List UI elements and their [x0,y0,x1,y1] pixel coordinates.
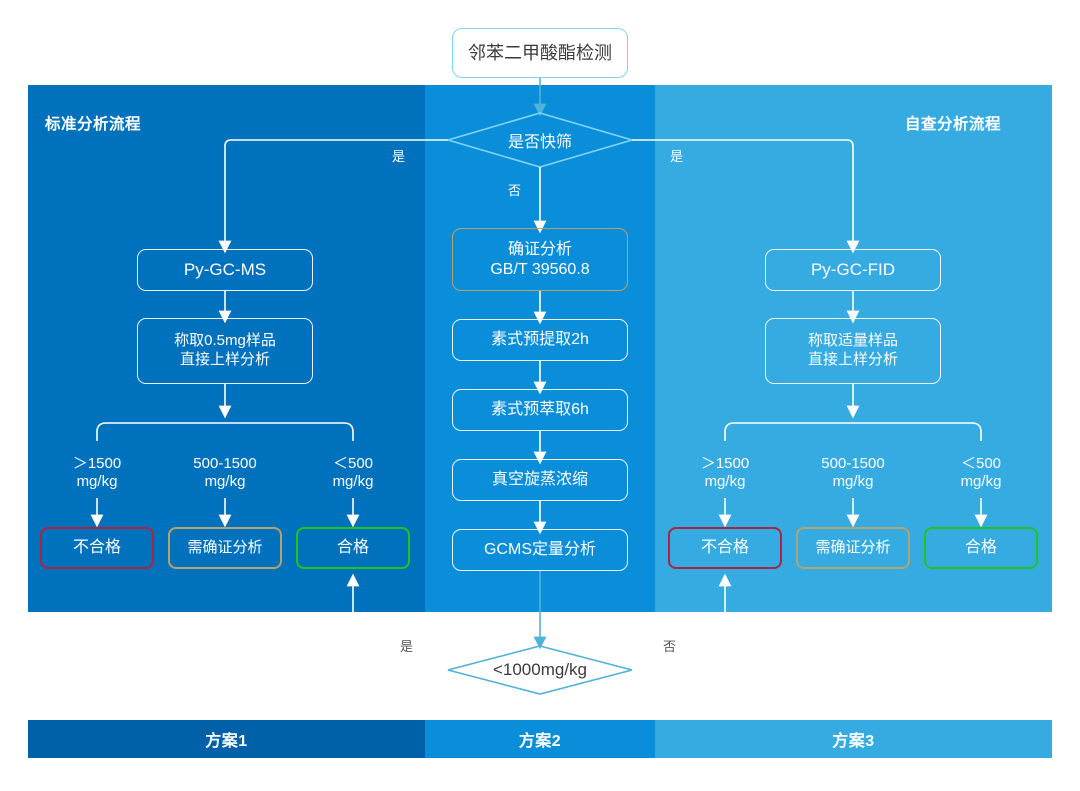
edge-label-no-down: 否 [508,180,521,199]
node-vacuum-concentrate[interactable]: 真空旋蒸浓缩 [452,459,628,501]
decision-threshold-label: <1000mg/kg [448,658,632,682]
node-left-sample-step[interactable]: 称取0.5mg样品 直接上样分析 [137,318,313,384]
node-confirm-standard[interactable]: 确证分析 GB/T 39560.8 [452,228,628,291]
range-label-left-high: ＞1500 mg/kg [47,455,147,492]
range-label-right-low: ＜500 mg/kg [931,455,1031,492]
range-label-right-mid: 500-1500 mg/kg [803,455,903,492]
outcome-right-pass[interactable]: 合格 [924,527,1038,569]
outcome-left-pass[interactable]: 合格 [296,527,410,569]
footer-plan-2[interactable]: 方案2 [425,720,655,758]
node-soxhlet-extract[interactable]: 素式预萃取6h [452,389,628,431]
node-gcms-quant[interactable]: GCMS定量分析 [452,529,628,571]
node-py-gc-fid[interactable]: Py-GC-FID [765,249,941,291]
footer-plan-1[interactable]: 方案1 [28,720,425,758]
panel-title-standard: 标准分析流程 [45,112,141,134]
edge-label-bottom-no: 否 [663,636,676,655]
node-py-gc-ms[interactable]: Py-GC-MS [137,249,313,291]
edge-label-yes-left: 是 [392,146,405,165]
edge-label-bottom-yes: 是 [400,636,413,655]
node-soxhlet-pre-extract[interactable]: 素式预提取2h [452,319,628,361]
decision-screening-label: 是否快筛 [448,128,632,152]
node-right-sample-step[interactable]: 称取适量样品 直接上样分析 [765,318,941,384]
outcome-left-fail[interactable]: 不合格 [40,527,154,569]
flowchart-canvas: 标准分析流程 自查分析流程 邻苯二甲酸酯检测 是否快筛 是 是 否 Py-GC-… [0,0,1080,791]
outcome-right-needs-confirm[interactable]: 需确证分析 [796,527,910,569]
range-label-left-mid: 500-1500 mg/kg [175,455,275,492]
outcome-right-fail[interactable]: 不合格 [668,527,782,569]
range-label-left-low: ＜500 mg/kg [303,455,403,492]
panel-title-selfcheck: 自查分析流程 [905,112,1001,134]
footer-plan-bars: 方案1 方案2 方案3 [28,720,1052,758]
outcome-left-needs-confirm[interactable]: 需确证分析 [168,527,282,569]
range-label-right-high: ＞1500 mg/kg [675,455,775,492]
edge-label-yes-right: 是 [670,146,683,165]
node-title[interactable]: 邻苯二甲酸酯检测 [452,28,628,78]
footer-plan-3[interactable]: 方案3 [655,720,1052,758]
